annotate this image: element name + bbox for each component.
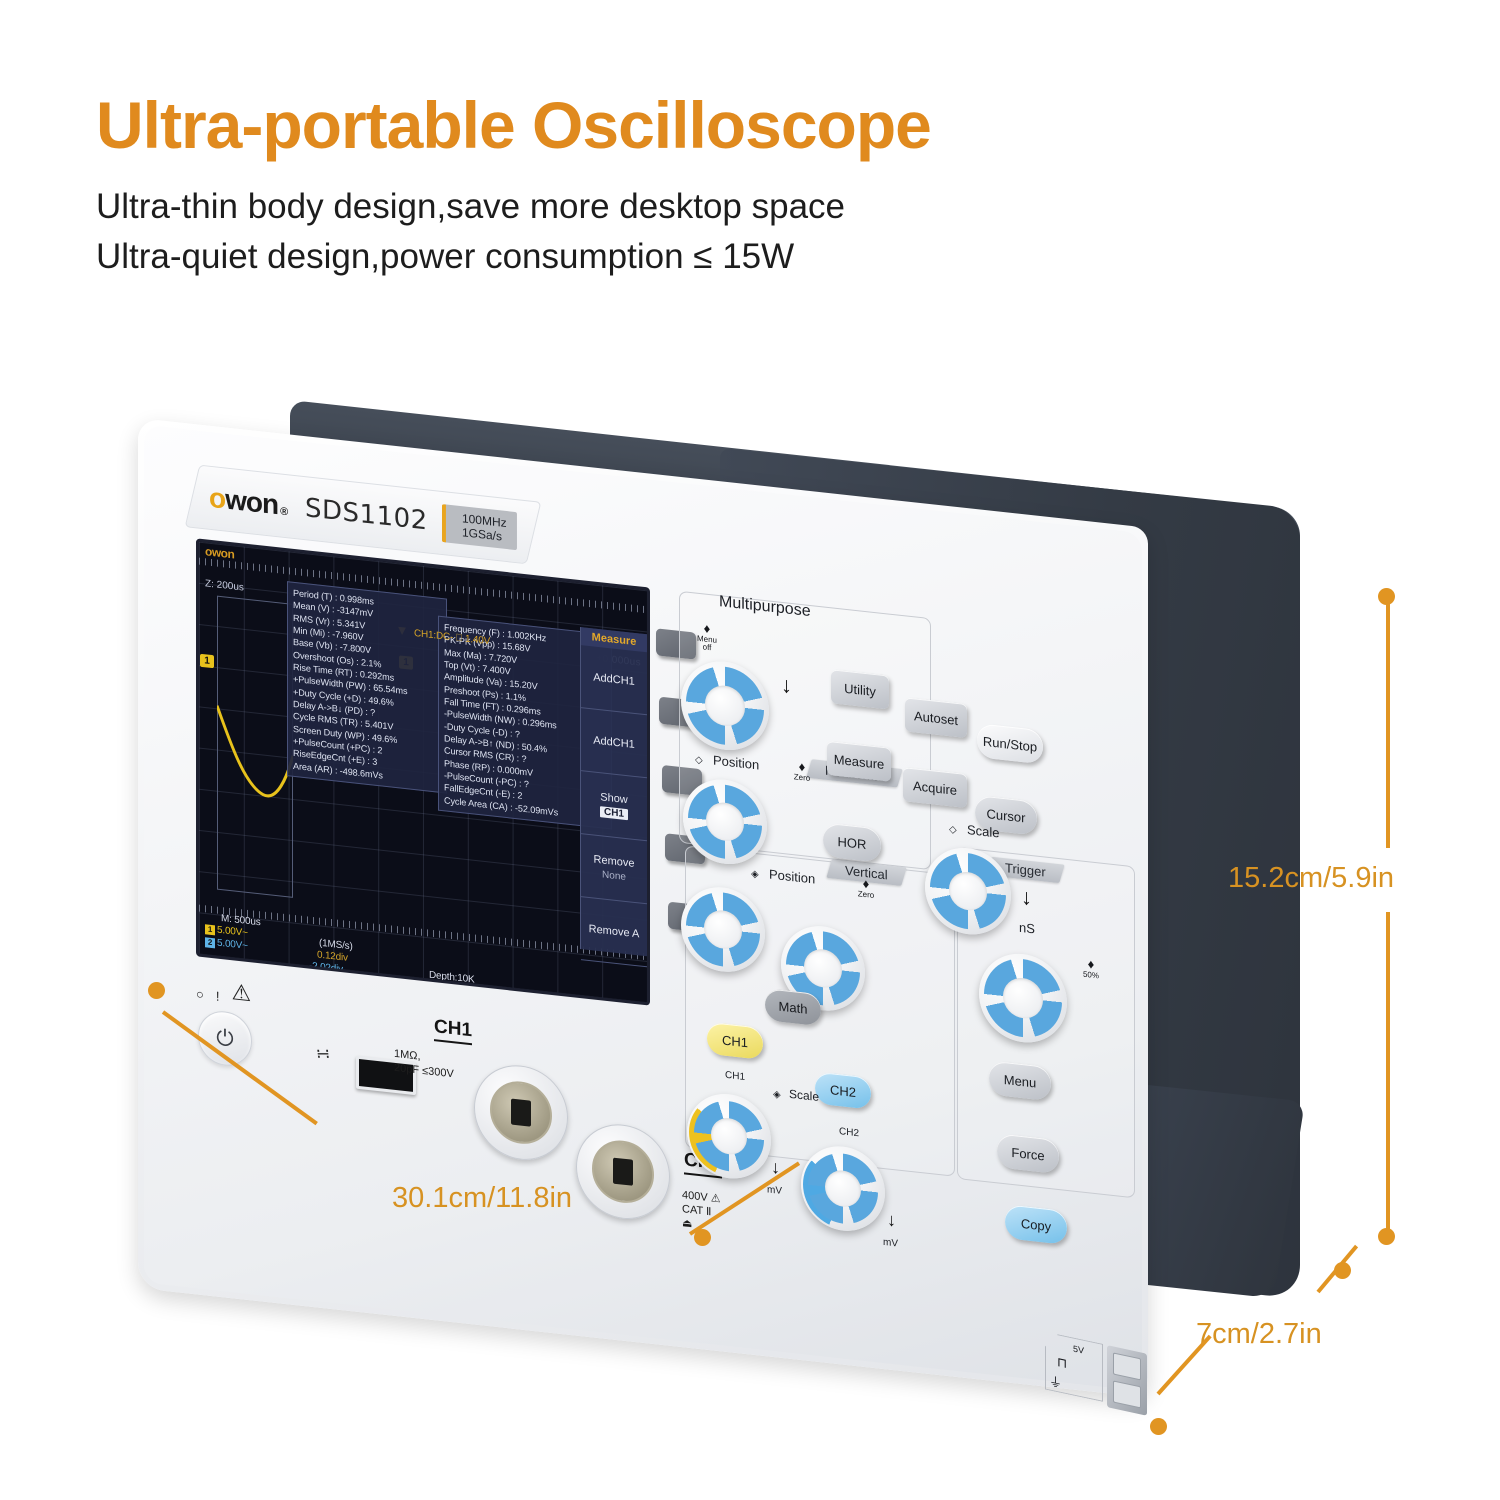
- softkey-menu-item[interactable]: RemoveNone: [581, 834, 647, 904]
- ch2-bnc-connector[interactable]: [576, 1120, 670, 1224]
- autoset-button[interactable]: Autoset: [905, 697, 967, 738]
- softkey-menu-item[interactable]: AddCH1: [581, 708, 647, 778]
- subtitle-line-2: Ultra-quiet design,power consumption ≤ 1…: [96, 232, 1216, 282]
- ch1-mv-label: mV: [767, 1184, 782, 1197]
- zero-label-v: Zero: [858, 889, 874, 900]
- registered-mark: ®: [280, 505, 287, 518]
- fifty-percent-label: 50%: [1083, 969, 1099, 980]
- ch2-mv-arrow-icon: ↓: [887, 1209, 896, 1231]
- softkey-menu: Measure AddCH1AddCH1ShowCH1RemoveNoneRem…: [580, 627, 647, 956]
- utility-button[interactable]: Utility: [831, 669, 889, 709]
- ns-label: nS: [1019, 920, 1035, 937]
- brand-logo: owon®: [209, 482, 287, 522]
- probe-comp-marking: 5V ⊓ ⏚: [1045, 1331, 1103, 1401]
- horizontal-scale-label: Scale: [967, 822, 1000, 841]
- softkey-sublabel: CH1: [600, 806, 628, 820]
- trigger-slope-icon: ⎕: [456, 633, 462, 645]
- softkey-label: AddCH1: [593, 671, 635, 688]
- depth-dim-line-right: [1316, 1245, 1358, 1294]
- probe-comp-terminal[interactable]: [1107, 1345, 1147, 1416]
- depth-dim-dot-left: [1150, 1418, 1167, 1435]
- horizontal-zero-push-icon: ♦ Zero: [785, 758, 819, 784]
- oscilloscope-product: owon® SDS1102 100MHz 1GSa/s owon 1 1 ▼ +…: [120, 390, 1300, 1330]
- spec-badge: 100MHz 1GSa/s: [442, 504, 517, 550]
- probe-comp-pad-1: [1113, 1352, 1141, 1380]
- vertical-position-arrow-icon: ◈: [751, 869, 759, 881]
- display-screen[interactable]: owon 1 1 ▼ +0.000us Z: 200us Period (T) …: [196, 538, 650, 1005]
- height-dim-dot-bottom: [1378, 1228, 1395, 1245]
- ch2-bnc-inner: [592, 1137, 654, 1206]
- front-panel: owon® SDS1102 100MHz 1GSa/s owon 1 1 ▼ +…: [138, 418, 1148, 1398]
- subtitle-line-1: Ultra-thin body design,save more desktop…: [96, 182, 1216, 232]
- softkey-menu-item[interactable]: AddCH1: [581, 645, 647, 715]
- indicator-symbols: ○ ! ⚠: [196, 975, 251, 1007]
- trigger-50-push-icon: ♦ 50%: [1071, 955, 1111, 981]
- ch1-ground-marker: 1: [200, 654, 214, 669]
- vertical-scale-arrow-icon: ◈: [773, 1089, 781, 1101]
- menu-off-push-icon: ♦ Menu off: [687, 620, 727, 655]
- softkey-label: AddCH1: [593, 734, 635, 751]
- trigger-label: Trigger: [1005, 860, 1046, 879]
- acquire-button[interactable]: Acquire: [903, 767, 967, 808]
- measure-button[interactable]: Measure: [827, 741, 891, 782]
- ch1-connector-label: CH1: [434, 1016, 472, 1045]
- usb-icon: ∺: [315, 1044, 331, 1064]
- model-number: SDS1102: [305, 493, 428, 536]
- ch1-waveform: [217, 704, 293, 822]
- softkey-menu-items: AddCH1AddCH1ShowCH1RemoveNoneRemove A: [581, 645, 647, 967]
- multipurpose-arrow-icon: ↓: [781, 672, 792, 699]
- ch2-scale-value: 5.00V~: [217, 938, 248, 952]
- ch2-badge: 2: [205, 937, 215, 948]
- measurement-panel-left: Period (T) : 0.998msMean (V) : -3147mVRM…: [287, 581, 447, 793]
- height-dimension-label: 15.2cm/5.9in: [1228, 862, 1394, 895]
- brand-logo-text: won: [225, 483, 278, 521]
- ch1-knob-label: CH1: [725, 1070, 745, 1083]
- probe-comp-voltage: 5V: [1073, 1343, 1084, 1355]
- width-dim-dot-left: [148, 982, 165, 999]
- ch1-bnc-connector[interactable]: [474, 1061, 568, 1165]
- probe-comp-outline: [1045, 1331, 1103, 1401]
- ch1-scale-value: 5.00V~: [217, 925, 248, 939]
- probe-comp-pad-2: [1113, 1380, 1141, 1408]
- run-stop-button[interactable]: Run/Stop: [977, 723, 1043, 764]
- memory-depth-readout: Depth:10K: [429, 970, 474, 986]
- brand-logo-o: o: [209, 482, 225, 516]
- softkey-menu-item[interactable]: ShowCH1: [581, 771, 647, 841]
- ch1-bnc-inner: [490, 1078, 552, 1147]
- horizontal-scale-arrow-icon: ◇: [949, 824, 957, 836]
- horizontal-position-arrow-icon: ◇: [695, 755, 703, 767]
- width-dim-dot-right: [694, 1229, 711, 1246]
- depth-dimension-label: 7cm/2.7in: [1196, 1318, 1322, 1351]
- softkey-label: Remove: [594, 853, 635, 869]
- probe-comp-ground-icon: ⏚: [1049, 1370, 1062, 1392]
- power-led-icon: ○: [196, 986, 204, 1002]
- ch2-knob-label: CH2: [839, 1126, 859, 1139]
- power-icon: ⏻: [216, 1025, 233, 1053]
- softkey-sublabel: None: [602, 869, 626, 883]
- alert-led-icon: !: [216, 988, 220, 1003]
- ch1-badge: 1: [205, 924, 215, 935]
- ch2-offset-readout: -2.02div: [309, 961, 343, 976]
- width-dimension-label: 30.1cm/11.8in: [392, 1182, 572, 1215]
- ns-arrow-icon: ↓: [1021, 884, 1032, 911]
- copy-button[interactable]: Copy: [1005, 1204, 1067, 1245]
- control-panel: Horizontal Vertical Trigger Multipurpose…: [689, 596, 1134, 1404]
- depth-dim-line-left: [1157, 1335, 1212, 1396]
- ch2-bnc-pin: [613, 1158, 633, 1186]
- height-dim-line-bottom: [1386, 912, 1390, 1232]
- page-title: Ultra-portable Oscilloscope: [96, 92, 1216, 158]
- height-dim-line-top: [1386, 600, 1390, 848]
- ch2-scale-readout: 25.00V~: [205, 936, 248, 952]
- headline-block: Ultra-portable Oscilloscope Ultra-thin b…: [96, 92, 1216, 281]
- warning-triangle-icon: ⚠: [231, 979, 251, 1007]
- menu-off-label-2: off: [703, 642, 712, 652]
- vertical-zero-push-icon: ♦ Zero: [849, 875, 883, 901]
- softkey-label: Remove A: [589, 923, 640, 941]
- zero-label-h: Zero: [794, 772, 810, 783]
- probe-comp-wave-icon: ⊓: [1057, 1354, 1067, 1372]
- ch2-mv-label: mV: [883, 1237, 898, 1250]
- front-panel-inner: owon® SDS1102 100MHz 1GSa/s owon 1 1 ▼ +…: [144, 425, 1142, 1391]
- ch1-bnc-pin: [511, 1099, 531, 1127]
- softkey-label: Show: [600, 791, 628, 806]
